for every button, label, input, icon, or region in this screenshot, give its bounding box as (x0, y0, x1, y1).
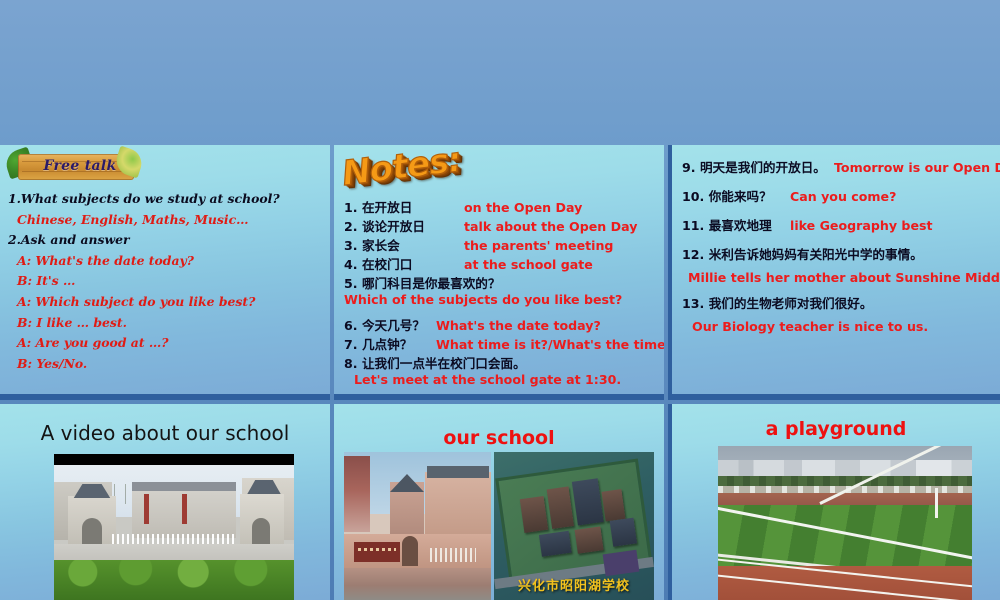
note-number: 3. (344, 238, 358, 253)
aerial-caption: 兴化市昭阳湖学校 (494, 575, 654, 594)
note-block: 12. 米利告诉她妈妈有关阳光中学的事情。 Millie tells her m… (682, 244, 994, 285)
panel-playground: a playground (668, 404, 1000, 600)
note-english: What time is it?/What's the time? (436, 337, 664, 352)
note-chinese: 几点钟？ (362, 337, 412, 352)
building (520, 496, 548, 533)
building (539, 531, 572, 557)
note-english: Which of the subjects do you like best? (344, 292, 622, 307)
note-number: 1. (344, 200, 358, 215)
note-number: 7. (344, 337, 358, 352)
note-chinese: 在校门口 (362, 257, 412, 272)
video-letterbox-bar (54, 454, 294, 465)
notes-list-right: 9. 明天是我们的开放日。 Tomorrow is our Open Day. … (682, 157, 994, 342)
note-row: 8. 让我们一点半在校门口会面。 (344, 353, 658, 372)
note-english: Tomorrow is our Open Day. (834, 160, 1000, 175)
notes-title: Notes: (340, 145, 463, 194)
arch (252, 518, 270, 544)
panel-free-talk: Free talk 1.What subjects do we study at… (0, 145, 330, 400)
video-title: A video about our school (0, 421, 330, 445)
building (610, 518, 637, 547)
note-number: 10. (682, 189, 704, 204)
note-row: 2. 谈论开放日 talk about the Open Day (344, 216, 658, 235)
playground-title: a playground (672, 418, 1000, 440)
note-number: 2. (344, 219, 358, 234)
note-english: What's the date today? (436, 318, 601, 333)
note-chinese: 明天是我们的开放日。 (700, 160, 826, 175)
free-talk-line: A: What's the date today? (8, 251, 324, 272)
free-talk-line: 2.Ask and answer (8, 230, 324, 251)
note-row: 13. 我们的生物老师对我们很好。 (682, 293, 994, 312)
free-talk-label: Free talk (34, 158, 126, 174)
building (547, 486, 574, 529)
playground-photo[interactable] (718, 446, 972, 600)
note-chinese: 我们的生物老师对我们很好。 (709, 296, 873, 311)
panel-video: A video about our school (0, 404, 330, 600)
building (575, 526, 604, 553)
arch (82, 518, 102, 544)
note-row: 7. 几点钟？ What time is it?/What's the time… (344, 334, 658, 353)
panel-notes-left: Notes: 1. 在开放日 on the Open Day 2. 谈论开放日 … (334, 145, 664, 400)
note-english: at the school gate (464, 257, 593, 272)
note-chinese: 你能来吗？ (709, 189, 772, 204)
building-block-left (344, 456, 370, 532)
slide-panel-grid: Free talk 1.What subjects do we study at… (0, 145, 1000, 600)
goal-post (935, 488, 938, 518)
note-number: 8. (344, 356, 358, 371)
gate-pillar-left (68, 496, 116, 544)
note-english: Millie tells her mother about Sunshine M… (682, 270, 994, 285)
running-track (718, 566, 972, 600)
free-talk-line: A: Are you good at …? (8, 333, 324, 354)
note-chinese: 今天几号？ (362, 318, 425, 333)
note-row: Which of the subjects do you like best? (344, 292, 658, 311)
note-english: Let's meet at the school gate at 1:30. (354, 372, 621, 387)
note-row: 11. 最喜欢地理 like Geography best (682, 215, 994, 234)
note-row: 5. 哪门科目是你最喜欢的？ (344, 273, 658, 292)
building (572, 478, 604, 525)
note-number: 9. (682, 160, 696, 175)
slide-top-background (0, 0, 1000, 145)
note-chinese: 家长会 (362, 238, 400, 253)
free-talk-line: B: I like … best. (8, 313, 324, 334)
red-banner (144, 494, 149, 524)
free-talk-line: 1.What subjects do we study at school? (8, 189, 324, 210)
road (344, 568, 491, 600)
roof-right (427, 466, 489, 478)
railing (430, 548, 476, 562)
note-number: 11. (682, 218, 704, 233)
school-gate-photo[interactable] (54, 454, 294, 600)
sports-court (603, 550, 640, 577)
note-chinese: 让我们一点半在校门口会面。 (362, 356, 526, 371)
hedge-row (54, 560, 294, 600)
note-chinese: 在开放日 (362, 200, 412, 215)
campus-aerial-photo[interactable]: 兴化市昭阳湖学校 (494, 452, 654, 600)
school-entrance-photo[interactable] (344, 452, 491, 600)
note-chinese: 最喜欢地理 (709, 218, 772, 233)
note-number: 5. (344, 276, 358, 291)
free-talk-line: B: Yes/No. (8, 354, 324, 375)
note-english: talk about the Open Day (464, 219, 637, 234)
our-school-title: our school (334, 427, 664, 449)
note-chinese: 哪门科目是你最喜欢的？ (362, 276, 501, 291)
note-row: 4. 在校门口 at the school gate (344, 254, 658, 273)
note-row: 1. 在开放日 on the Open Day (344, 197, 658, 216)
note-row: 10. 你能来吗？ Can you come? (682, 186, 994, 205)
note-number: 12. (682, 247, 704, 262)
note-english: Can you come? (790, 189, 896, 204)
note-row: Let's meet at the school gate at 1:30. (344, 372, 658, 392)
note-chinese: 米利告诉她妈妈有关阳光中学的事情。 (709, 247, 923, 262)
free-talk-line: B: It's … (8, 271, 324, 292)
building (602, 489, 626, 521)
gate-arch (402, 536, 418, 566)
gate-pillar-right (240, 494, 284, 544)
note-english: Our Biology teacher is nice to us. (682, 319, 994, 334)
note-block: 13. 我们的生物老师对我们很好。 Our Biology teacher is… (682, 293, 994, 334)
note-row: 12. 米利告诉她妈妈有关阳光中学的事情。 (682, 244, 994, 263)
school-name-sign (354, 542, 400, 562)
note-chinese: 谈论开放日 (362, 219, 425, 234)
note-english: on the Open Day (464, 200, 582, 215)
panel-our-school: our school (334, 404, 664, 600)
notes-list-left: 1. 在开放日 on the Open Day 2. 谈论开放日 talk ab… (344, 197, 658, 392)
note-row: 6. 今天几号？ What's the date today? (344, 315, 658, 334)
note-number: 13. (682, 296, 704, 311)
note-row: 3. 家长会 the parents' meeting (344, 235, 658, 254)
note-english: the parents' meeting (464, 238, 613, 253)
note-number: 6. (344, 318, 358, 333)
panel-notes-right: 9. 明天是我们的开放日。 Tomorrow is our Open Day. … (668, 145, 1000, 400)
note-number: 4. (344, 257, 358, 272)
red-banner (182, 494, 187, 524)
note-english: like Geography best (790, 218, 933, 233)
note-row: 9. 明天是我们的开放日。 Tomorrow is our Open Day. (682, 157, 994, 176)
free-talk-lines: 1.What subjects do we study at school? C… (8, 189, 324, 374)
free-talk-line: A: Which subject do you like best? (8, 292, 324, 313)
far-track (718, 493, 972, 505)
free-talk-line: Chinese, English, Maths, Music… (8, 210, 324, 231)
free-talk-banner: Free talk (4, 150, 144, 184)
building-block-right (425, 472, 491, 538)
